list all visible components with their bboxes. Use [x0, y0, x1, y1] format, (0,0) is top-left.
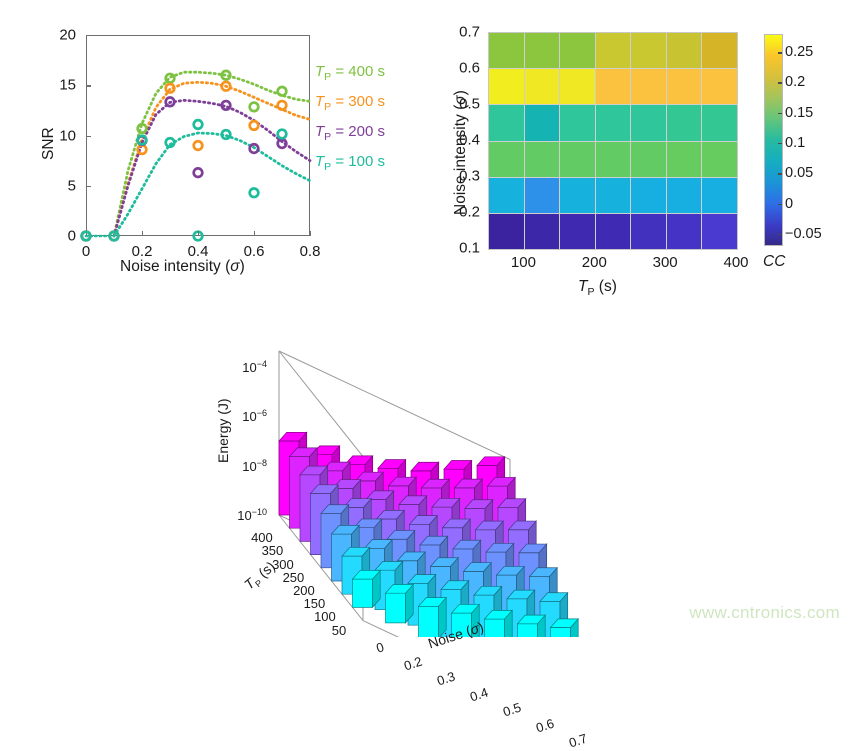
heatmap-cell	[489, 33, 524, 68]
bars3d-ztick-label: 10−10	[237, 507, 267, 523]
heatmap-xtick-label: 100	[511, 254, 536, 271]
snr-xaxis-title: Noise intensity (σ)	[120, 258, 245, 276]
heatmap-cell	[596, 178, 631, 213]
heatmap-cell	[489, 214, 524, 249]
heatmap-cell	[702, 214, 737, 249]
heatmap-cell	[631, 105, 666, 140]
heatmap-ytick-label: 0.6	[459, 60, 480, 77]
heatmap-cell	[489, 69, 524, 104]
bars3d-bar	[353, 570, 381, 607]
bars3d-zaxis-title: Energy (J)	[215, 398, 231, 463]
colorbar-notch	[778, 204, 782, 205]
heatmap-cell	[525, 214, 560, 249]
snr-xtick-mark	[254, 231, 255, 236]
heatmap-cell	[489, 142, 524, 177]
heatmap-ytick-label: 0.1	[459, 240, 480, 257]
heatmap-cell	[489, 105, 524, 140]
heatmap-yaxis-title: Noise intensity (σ)	[452, 90, 470, 215]
colorbar-notch	[778, 82, 782, 83]
snr-xtick-mark	[198, 231, 199, 236]
colorbar-notch	[778, 234, 782, 235]
heatmap-cell	[560, 69, 595, 104]
heatmap-cell	[667, 214, 702, 249]
bars3d-xtick-label: 0	[374, 640, 386, 657]
heatmap-cell	[525, 178, 560, 213]
heatmap-cell	[631, 178, 666, 213]
bars3d-xtick-label: 0.7	[567, 731, 589, 751]
colorbar-tick-label: 0.1	[785, 135, 805, 151]
snr-ytick-mark	[86, 136, 91, 137]
panel-energy-3d: 10−410−610−810−10Energy (J)4003503002502…	[195, 310, 675, 637]
bars3d-xtick-label: 0.3	[435, 669, 457, 689]
colorbar-label: CC	[763, 253, 785, 271]
heatmap-cell	[667, 69, 702, 104]
bars3d-ztick-label: 10−4	[242, 359, 267, 375]
snr-ytick-label: 0	[68, 228, 76, 245]
heatmap-cell	[560, 214, 595, 249]
colorbar-tick-label: 0.2	[785, 74, 805, 90]
colorbar-notch	[778, 143, 782, 144]
bars3d-xtick-label: 0.4	[468, 684, 490, 704]
snr-xtick-label: 0.8	[300, 243, 321, 260]
colorbar-tick-label: 0.05	[785, 165, 813, 181]
snr-xtick-mark	[142, 231, 143, 236]
heatmap-cell	[667, 178, 702, 213]
heatmap-cell	[596, 33, 631, 68]
heatmap-cell	[560, 33, 595, 68]
snr-legend-item: TP = 200 s	[315, 123, 385, 143]
heatmap-cell	[525, 105, 560, 140]
heatmap-cell	[596, 69, 631, 104]
heatmap-cell	[596, 105, 631, 140]
colorbar-notch	[778, 52, 782, 53]
snr-xtick-label: 0.6	[244, 243, 265, 260]
heatmap-cell	[596, 214, 631, 249]
bars3d-xtick-label: 0.2	[402, 653, 424, 673]
snr-ytick-mark	[86, 85, 91, 86]
bars3d-data-layer	[195, 310, 675, 637]
colorbar-notch	[778, 113, 782, 114]
snr-legend-item: TP = 100 s	[315, 153, 385, 173]
snr-ytick-label: 5	[68, 177, 76, 194]
heatmap-cell	[702, 33, 737, 68]
heatmap-cell	[525, 33, 560, 68]
figure-canvas: 00.20.40.60.805101520 Noise intensity (σ…	[0, 0, 856, 637]
heatmap-xtick-label: 400	[723, 254, 748, 271]
watermark: www.cntronics.com	[689, 603, 840, 623]
heatmap-cell	[667, 142, 702, 177]
snr-axes-box	[86, 35, 310, 236]
colorbar	[764, 34, 783, 246]
heatmap-cell	[702, 178, 737, 213]
colorbar-tick-label: −0.05	[785, 226, 822, 242]
bars3d-xtick-label: 0.6	[534, 715, 556, 735]
snr-legend-item: TP = 300 s	[315, 93, 385, 113]
heatmap-cell	[489, 178, 524, 213]
heatmap-cell	[560, 142, 595, 177]
heatmap-cell	[702, 105, 737, 140]
snr-xtick-label: 0	[82, 243, 90, 260]
heatmap-cell	[560, 178, 595, 213]
heatmap-xtick-label: 300	[653, 254, 678, 271]
heatmap-cell	[560, 105, 595, 140]
heatmap-cell	[631, 33, 666, 68]
bars3d-bar	[386, 585, 414, 623]
heatmap-xaxis-title: TP (s)	[578, 278, 617, 298]
heatmap-cell	[667, 33, 702, 68]
panel-cc-heatmap: 1002003004000.10.20.30.40.50.60.7 TP (s)…	[430, 0, 856, 305]
snr-ytick-label: 10	[59, 127, 76, 144]
snr-ytick-label: 15	[59, 77, 76, 94]
heatmap-cell	[702, 69, 737, 104]
heatmap-cell	[596, 142, 631, 177]
heatmap-cell	[702, 142, 737, 177]
heatmap-ytick-label: 0.7	[459, 24, 480, 41]
colorbar-tick-label: 0.15	[785, 105, 813, 121]
snr-ytick-mark	[86, 186, 91, 187]
bars3d-bar	[485, 610, 513, 637]
colorbar-notch	[778, 173, 782, 174]
bars3d-xtick-label: 0.5	[501, 700, 523, 720]
heatmap-cell	[525, 69, 560, 104]
heatmap-cell	[631, 142, 666, 177]
heatmap-cell	[525, 142, 560, 177]
heatmap-cell	[667, 105, 702, 140]
snr-legend-item: TP = 400 s	[315, 63, 385, 83]
heatmap-cell	[631, 69, 666, 104]
bars3d-ytick-label: 50	[332, 623, 346, 638]
snr-ytick-label: 20	[59, 27, 76, 44]
snr-yaxis-title: SNR	[40, 127, 58, 160]
heatmap-xtick-label: 200	[582, 254, 607, 271]
bars3d-ztick-label: 10−6	[242, 408, 267, 424]
colorbar-tick-label: 0.25	[785, 44, 813, 60]
colorbar-tick-label: 0	[785, 196, 793, 212]
heatmap-grid	[488, 32, 738, 250]
heatmap-cell	[631, 214, 666, 249]
panel-snr-scatter: 00.20.40.60.805101520 Noise intensity (σ…	[0, 0, 430, 300]
snr-xtick-mark	[310, 231, 311, 236]
bars3d-ztick-label: 10−8	[242, 457, 267, 473]
